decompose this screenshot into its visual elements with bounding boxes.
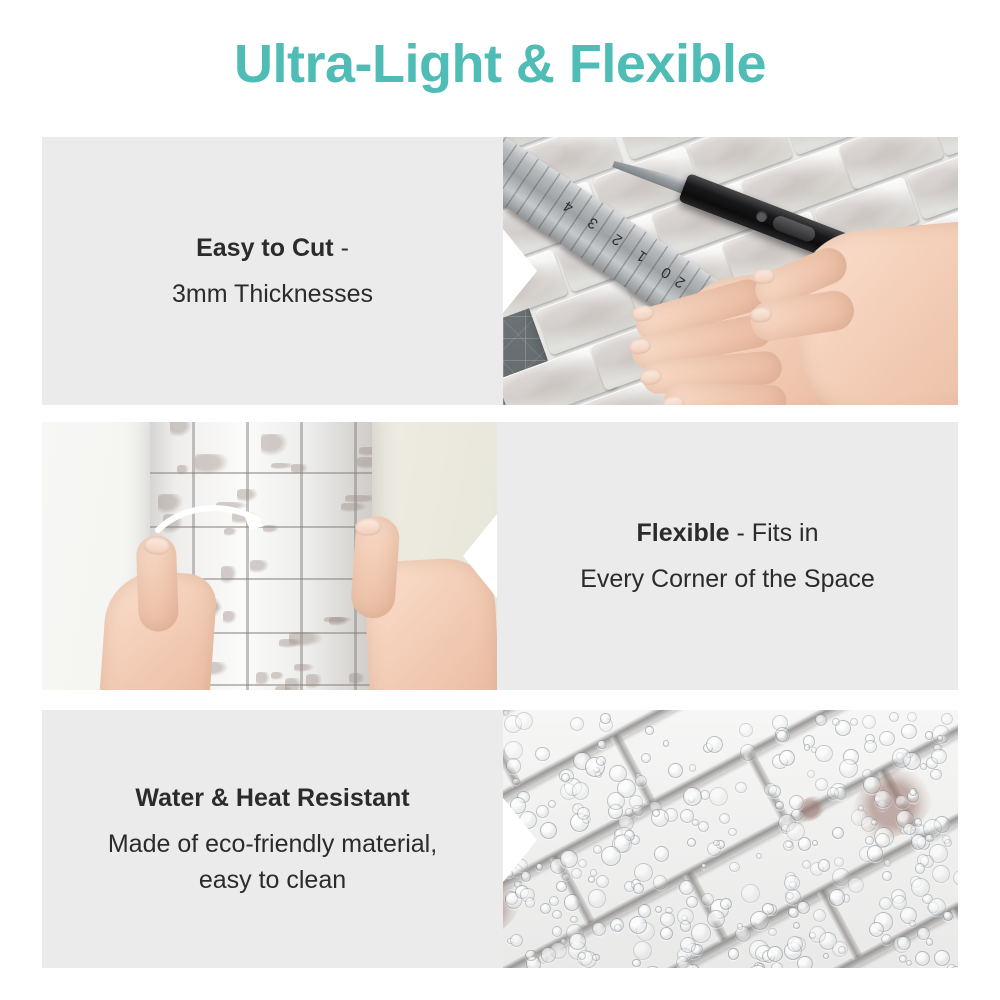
bending-panel-with-hands-photo — [42, 422, 497, 690]
panel-pointer-notch — [503, 798, 537, 882]
feature-row-water-heat-resistant: Water & Heat Resistant Made of eco-frien… — [42, 710, 958, 968]
feature-subtext-line-1: 3mm Thicknesses — [172, 276, 373, 312]
page-title: Ultra-Light & Flexible — [0, 36, 1000, 93]
feature-heading-bold: Easy to Cut — [196, 234, 334, 262]
panel-pointer-notch — [463, 514, 497, 598]
feature-heading-rest: - Fits in — [730, 519, 819, 547]
right-hand-holding-knife — [745, 204, 958, 405]
diagonal-brick-surface — [503, 710, 958, 968]
feature-heading-flexible: Flexible - Fits in — [637, 515, 819, 551]
feature-text-panel-easy-to-cut: Easy to Cut - 3mm Thicknesses — [42, 137, 503, 405]
feature-row-easy-to-cut: Easy to Cut - 3mm Thicknesses 3 4 5 6 7 … — [42, 137, 958, 405]
panel-pointer-notch — [503, 229, 537, 313]
infographic-page: Ultra-Light & Flexible Easy to Cut - 3mm… — [0, 0, 1000, 1000]
feature-heading-bold: Flexible — [637, 519, 730, 547]
feature-text-panel-flexible: Flexible - Fits in Every Corner of the S… — [497, 422, 958, 690]
cutting-panel-with-utility-knife-photo: 3 4 5 6 7 8 9 20 1 2 3 4 — [503, 137, 958, 405]
feature-heading-water-heat-resistant: Water & Heat Resistant — [135, 780, 409, 816]
feature-subtext-line-1: Every Corner of the Space — [580, 561, 875, 597]
feature-heading-rest: - — [334, 234, 349, 262]
bend-direction-arrow-icon — [154, 500, 272, 546]
feature-subtext-line-2: easy to clean — [199, 862, 346, 898]
left-hand-bending-panel — [91, 528, 235, 690]
feature-text-panel-water-heat-resistant: Water & Heat Resistant Made of eco-frien… — [42, 710, 503, 968]
water-droplets-on-brick-photo — [503, 710, 958, 968]
feature-heading-easy-to-cut: Easy to Cut - — [196, 230, 349, 266]
feature-heading-bold: Water & Heat Resistant — [135, 784, 409, 812]
feature-row-flexible: Flexible - Fits in Every Corner of the S… — [42, 422, 958, 690]
water-droplets — [503, 710, 958, 968]
feature-subtext-line-1: Made of eco-friendly material, — [108, 826, 437, 862]
